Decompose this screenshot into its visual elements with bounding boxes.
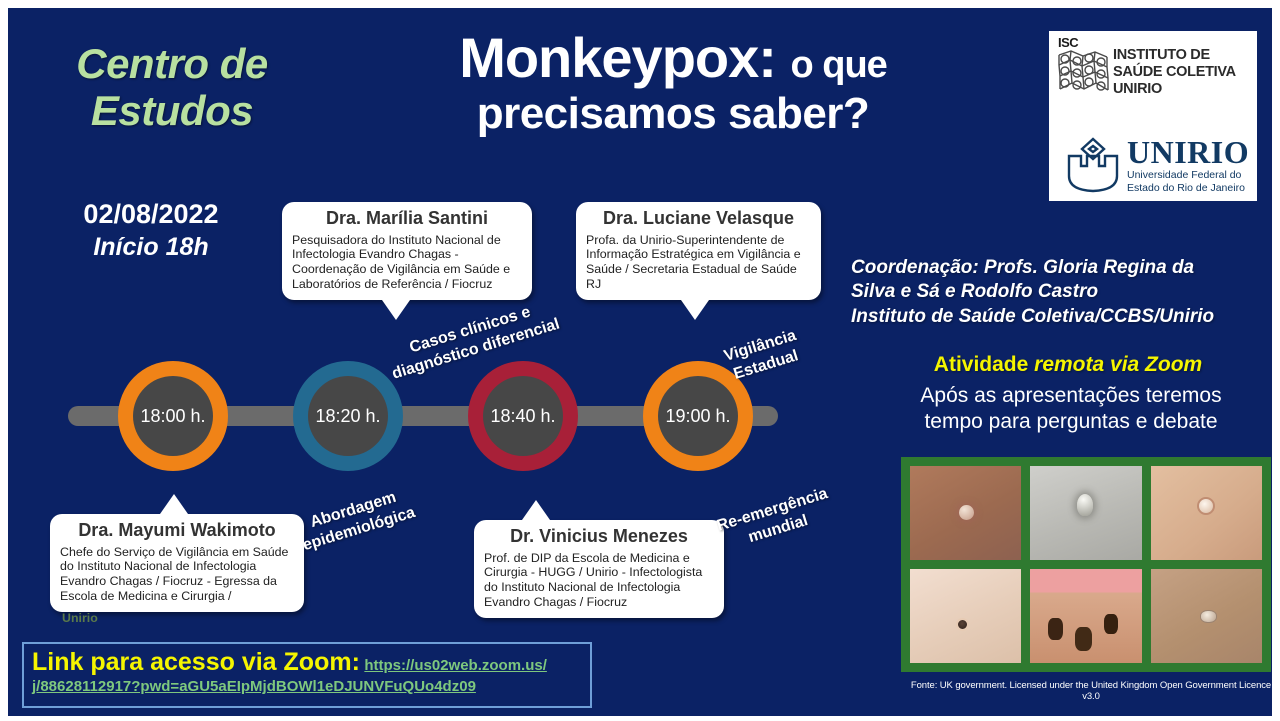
title-monkeypox: Monkeypox: (459, 26, 776, 89)
timeline-node-1: 18:00 h. (118, 361, 228, 471)
zoom-link-heading: Link para acesso via Zoom: (32, 648, 360, 676)
coordination-line2: Silva e Sá e Rodolfo Castro (851, 280, 1266, 304)
card-tail-icon (160, 494, 188, 514)
lesion-spot (1197, 497, 1215, 515)
speaker-description: Prof. de DIP da Escola de Medicina e Cir… (484, 551, 714, 610)
card-tail-icon (681, 300, 709, 320)
unirio-sub-line1: Universidade Federal do (1127, 169, 1249, 182)
gallery-source-caption: Fonte: UK government. Licensed under the… (901, 680, 1272, 702)
lesion-photo-gallery (901, 457, 1271, 672)
remote-heading-plain: Atividade (934, 353, 1034, 376)
unirio-wordmark: UNIRIO (1127, 136, 1249, 168)
unirio-emblem-icon (1063, 136, 1123, 194)
lesion-spot (1077, 494, 1093, 516)
timeline-node-2: 18:20 h. (293, 361, 403, 471)
lesion-photo (910, 569, 1021, 663)
isc-network-icon: ISC (1057, 37, 1111, 93)
lesion-spot (1104, 614, 1118, 634)
centro-de-estudos-title: Centro de Estudos (32, 40, 312, 134)
event-date-block: 02/08/2022 Início 18h (36, 198, 266, 263)
isc-logo-text: INSTITUTO DE SAÚDE COLETIVA UNIRIO (1113, 37, 1236, 98)
speaker-name: Dra. Marília Santini (292, 208, 522, 230)
lesion-photo (1030, 569, 1141, 663)
lesion-photo (1030, 466, 1141, 560)
remote-heading-emphasis: remota via Zoom (1034, 353, 1202, 376)
remote-body-line1: Após as apresentações teremos (876, 383, 1266, 409)
isc-text-line2: SAÚDE COLETIVA (1113, 64, 1236, 81)
event-date: 02/08/2022 (36, 198, 266, 232)
timeline-time-2: 18:20 h. (308, 376, 388, 456)
speaker-description: Profa. da Unirio-Superintendente de Info… (586, 233, 811, 292)
timeline-time-3: 18:40 h. (483, 376, 563, 456)
title-o-que: o que (790, 44, 886, 86)
title-line-1: Monkeypox: o que (308, 30, 1038, 86)
timeline-node-3: 18:40 h. (468, 361, 578, 471)
title-line-2: precisamos saber? (308, 92, 1038, 136)
speaker-name: Dra. Luciane Velasque (586, 208, 811, 230)
unirio-sub-line2: Estado do Rio de Janeiro (1127, 182, 1249, 195)
topic-label-abordagem-epidemiologica: Abordagem epidemiológica (295, 484, 418, 556)
topic-label-reemergencia-mundial: Re-emergência mundial (715, 484, 836, 556)
centro-line1: Centro de (76, 40, 268, 87)
timeline-time-4: 19:00 h. (658, 376, 738, 456)
speaker-description: Chefe do Serviço de Vigilância em Saúde … (60, 545, 294, 604)
lesion-photo (1151, 466, 1262, 560)
speaker-card-santini: Dra. Marília Santini Pesquisadora do Ins… (282, 202, 532, 300)
lesion-spot (956, 618, 969, 631)
zoom-link-footer: Link para acesso via Zoom: https://us02w… (22, 642, 592, 708)
speaker-card-menezes: Dr. Vinicius Menezes Prof. de DIP da Esc… (474, 520, 724, 618)
remote-activity-heading: Atividade remota via Zoom (888, 353, 1248, 377)
logo-box: ISC (1046, 28, 1260, 204)
lesion-photo (910, 466, 1021, 560)
poster-root: Centro de Estudos Monkeypox: o que preci… (0, 0, 1280, 721)
poster-slide: Centro de Estudos Monkeypox: o que preci… (8, 8, 1272, 716)
coordination-block: Coordenação: Profs. Gloria Regina da Sil… (851, 256, 1266, 329)
coordination-line3: Instituto de Saúde Coletiva/CCBS/Unirio (851, 305, 1266, 329)
speaker-name: Dr. Vinicius Menezes (484, 526, 714, 548)
unirio-logo: UNIRIO Universidade Federal do Estado do… (1057, 136, 1249, 195)
isc-acronym: ISC (1058, 35, 1078, 50)
speaker-name: Dra. Mayumi Wakimoto (60, 520, 294, 542)
isc-logo: ISC (1057, 37, 1249, 98)
centro-line2: Estudos (91, 87, 253, 134)
zoom-link-url-part2[interactable]: j/88628112917?pwd=aGU5aEIpMjdBOWl1eDJUNV… (32, 678, 582, 695)
event-start-time: Início 18h (36, 232, 266, 263)
lesion-spot (1048, 618, 1063, 640)
isc-text-line1: INSTITUTO DE (1113, 47, 1236, 64)
timeline-time-1: 18:00 h. (133, 376, 213, 456)
isc-mesh-icon (1057, 49, 1111, 93)
coordination-line1: Coordenação: Profs. Gloria Regina da (851, 256, 1266, 280)
lesion-spot (1075, 627, 1092, 651)
speaker-card-velasque: Dra. Luciane Velasque Profa. da Unirio-S… (576, 202, 821, 300)
page-title: Monkeypox: o que precisamos saber? (308, 30, 1038, 136)
zoom-link-url-part1[interactable]: https://us02web.zoom.us/ (364, 657, 547, 674)
remote-body-line2: tempo para perguntas e debate (876, 409, 1266, 435)
lesion-spot (1200, 610, 1217, 623)
unirio-logo-text: UNIRIO Universidade Federal do Estado do… (1127, 136, 1249, 195)
speaker-description: Pesquisadora do Instituto Nacional de In… (292, 233, 522, 292)
topic-label-vigilancia-estadual: Vigilância Estadual (722, 326, 805, 386)
lesion-spot (959, 505, 974, 520)
lesion-photo (1151, 569, 1262, 663)
isc-text-line3: UNIRIO (1113, 81, 1236, 98)
card-tail-icon (382, 300, 410, 320)
speaker-extra-label: Unirio (62, 611, 98, 625)
speaker-card-wakimoto: Dra. Mayumi Wakimoto Chefe do Serviço de… (50, 514, 304, 612)
remote-activity-body: Após as apresentações teremos tempo para… (876, 383, 1266, 434)
card-tail-icon (522, 500, 550, 520)
